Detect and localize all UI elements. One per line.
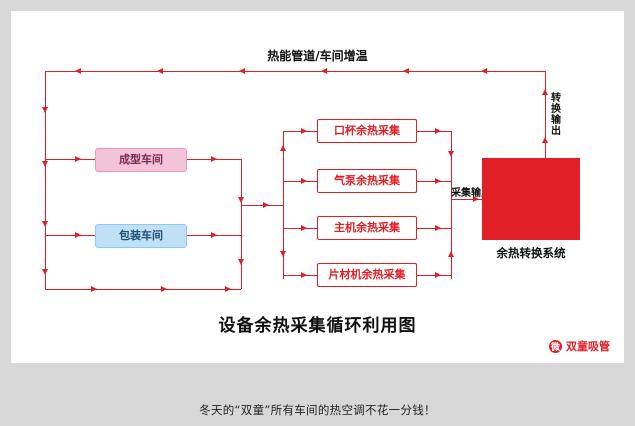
collector3-out-line bbox=[417, 228, 451, 229]
collector4-out-arrow bbox=[435, 272, 441, 278]
flow-arrow-top-1 bbox=[481, 68, 487, 74]
collector4-in-arrow bbox=[301, 272, 307, 278]
node-collector-sheet[interactable]: 片材机余热采集 bbox=[317, 263, 417, 287]
collector2-in-line bbox=[283, 181, 317, 182]
flow-arrow-left-3 bbox=[42, 221, 48, 227]
workshop1-in-arrow bbox=[75, 156, 81, 162]
node-collector-main[interactable]: 主机余热采集 bbox=[317, 216, 417, 240]
node-collector-pump[interactable]: 气泵余热采集 bbox=[317, 169, 417, 193]
flow-arrow-bottom-3 bbox=[225, 286, 231, 292]
loop-top-line bbox=[45, 71, 545, 72]
node-workshop-packaging-label: 包装车间 bbox=[119, 230, 163, 243]
workshop1-in-line bbox=[45, 159, 95, 160]
flow-arrow-right-1 bbox=[542, 89, 548, 95]
node-workshop-molding-label: 成型车间 bbox=[119, 154, 163, 167]
convert-output-label: 转换输出 bbox=[550, 93, 562, 137]
right-bus-arrow-2 bbox=[448, 251, 454, 257]
collector3-in-arrow bbox=[301, 225, 307, 231]
node-collector-cup-label: 口杯余热采集 bbox=[334, 125, 400, 138]
top-pipe-label: 热能管道/车间增温 bbox=[11, 47, 624, 64]
workshop2-in-arrow bbox=[75, 232, 81, 238]
flow-arrow-left-4 bbox=[42, 269, 48, 275]
node-collector-main-label: 主机余热采集 bbox=[334, 222, 400, 235]
collector-bus-arrow-up bbox=[280, 145, 286, 151]
collector2-out-line bbox=[417, 181, 451, 182]
workshop2-in-line bbox=[45, 235, 95, 236]
diagram-canvas: 热能管道/车间增温 转换输出 bbox=[11, 11, 624, 363]
collector1-in-arrow bbox=[301, 128, 307, 134]
node-collector-cup[interactable]: 口杯余热采集 bbox=[317, 119, 417, 143]
right-bus-arrow-1 bbox=[448, 151, 454, 157]
workshop2-out-arrow bbox=[211, 232, 217, 238]
node-workshop-molding[interactable]: 成型车间 bbox=[95, 148, 187, 172]
screenshot-root: 热能管道/车间增温 转换输出 bbox=[0, 0, 635, 426]
collector2-in-arrow bbox=[301, 178, 307, 184]
wechat-badge-icon: 微 bbox=[549, 340, 562, 353]
node-workshop-packaging[interactable]: 包装车间 bbox=[95, 224, 187, 248]
workshop-bus-arrow-1 bbox=[238, 197, 244, 203]
node-heat-conversion-system-label: 余热转换系统 bbox=[463, 245, 599, 261]
flow-arrow-top-3 bbox=[321, 68, 327, 74]
collector1-out-arrow bbox=[435, 128, 441, 134]
caption-text: 冬天的“双童”所有车间的热空调不花一分钱！ bbox=[199, 403, 436, 417]
loop-left-riser bbox=[45, 71, 46, 289]
node-heat-conversion-system[interactable] bbox=[482, 158, 580, 240]
workshop-bus-arrow-2 bbox=[238, 259, 244, 265]
loop-bottom-line bbox=[45, 289, 241, 290]
collector4-in-line bbox=[283, 275, 317, 276]
watermark: 微 双童吸管 bbox=[549, 338, 610, 354]
flow-arrow-top-2 bbox=[403, 68, 409, 74]
loop-right-riser bbox=[545, 71, 546, 158]
flow-arrow-top-4 bbox=[239, 68, 245, 74]
collector-feed-arrow bbox=[263, 202, 269, 208]
flow-arrow-left-2 bbox=[42, 161, 48, 167]
workshop1-out-arrow bbox=[211, 156, 217, 162]
collector4-out-line bbox=[417, 275, 451, 276]
collector-feed-line bbox=[241, 205, 283, 206]
collector3-in-line bbox=[283, 228, 317, 229]
collector1-in-line bbox=[283, 131, 317, 132]
flow-arrow-right-2 bbox=[542, 137, 548, 143]
collector1-out-line bbox=[417, 131, 451, 132]
flow-arrow-top-6 bbox=[75, 68, 81, 74]
caption-bar: 冬天的“双童”所有车间的热空调不花一分钱！ bbox=[0, 395, 635, 426]
flow-arrow-bottom-2 bbox=[161, 286, 167, 292]
watermark-text: 双童吸管 bbox=[566, 338, 610, 354]
flow-arrow-bottom-1 bbox=[91, 286, 97, 292]
collector-bus-arrow-down bbox=[280, 251, 286, 257]
collector2-out-arrow bbox=[435, 178, 441, 184]
diagram-title: 设备余热采集循环利用图 bbox=[11, 311, 624, 336]
node-collector-sheet-label: 片材机余热采集 bbox=[329, 269, 406, 282]
collector3-out-arrow bbox=[435, 225, 441, 231]
node-collector-pump-label: 气泵余热采集 bbox=[334, 175, 400, 188]
flow-arrow-left-1 bbox=[42, 107, 48, 113]
flow-arrow-top-5 bbox=[157, 68, 163, 74]
workshop-bus-vline bbox=[241, 159, 242, 289]
